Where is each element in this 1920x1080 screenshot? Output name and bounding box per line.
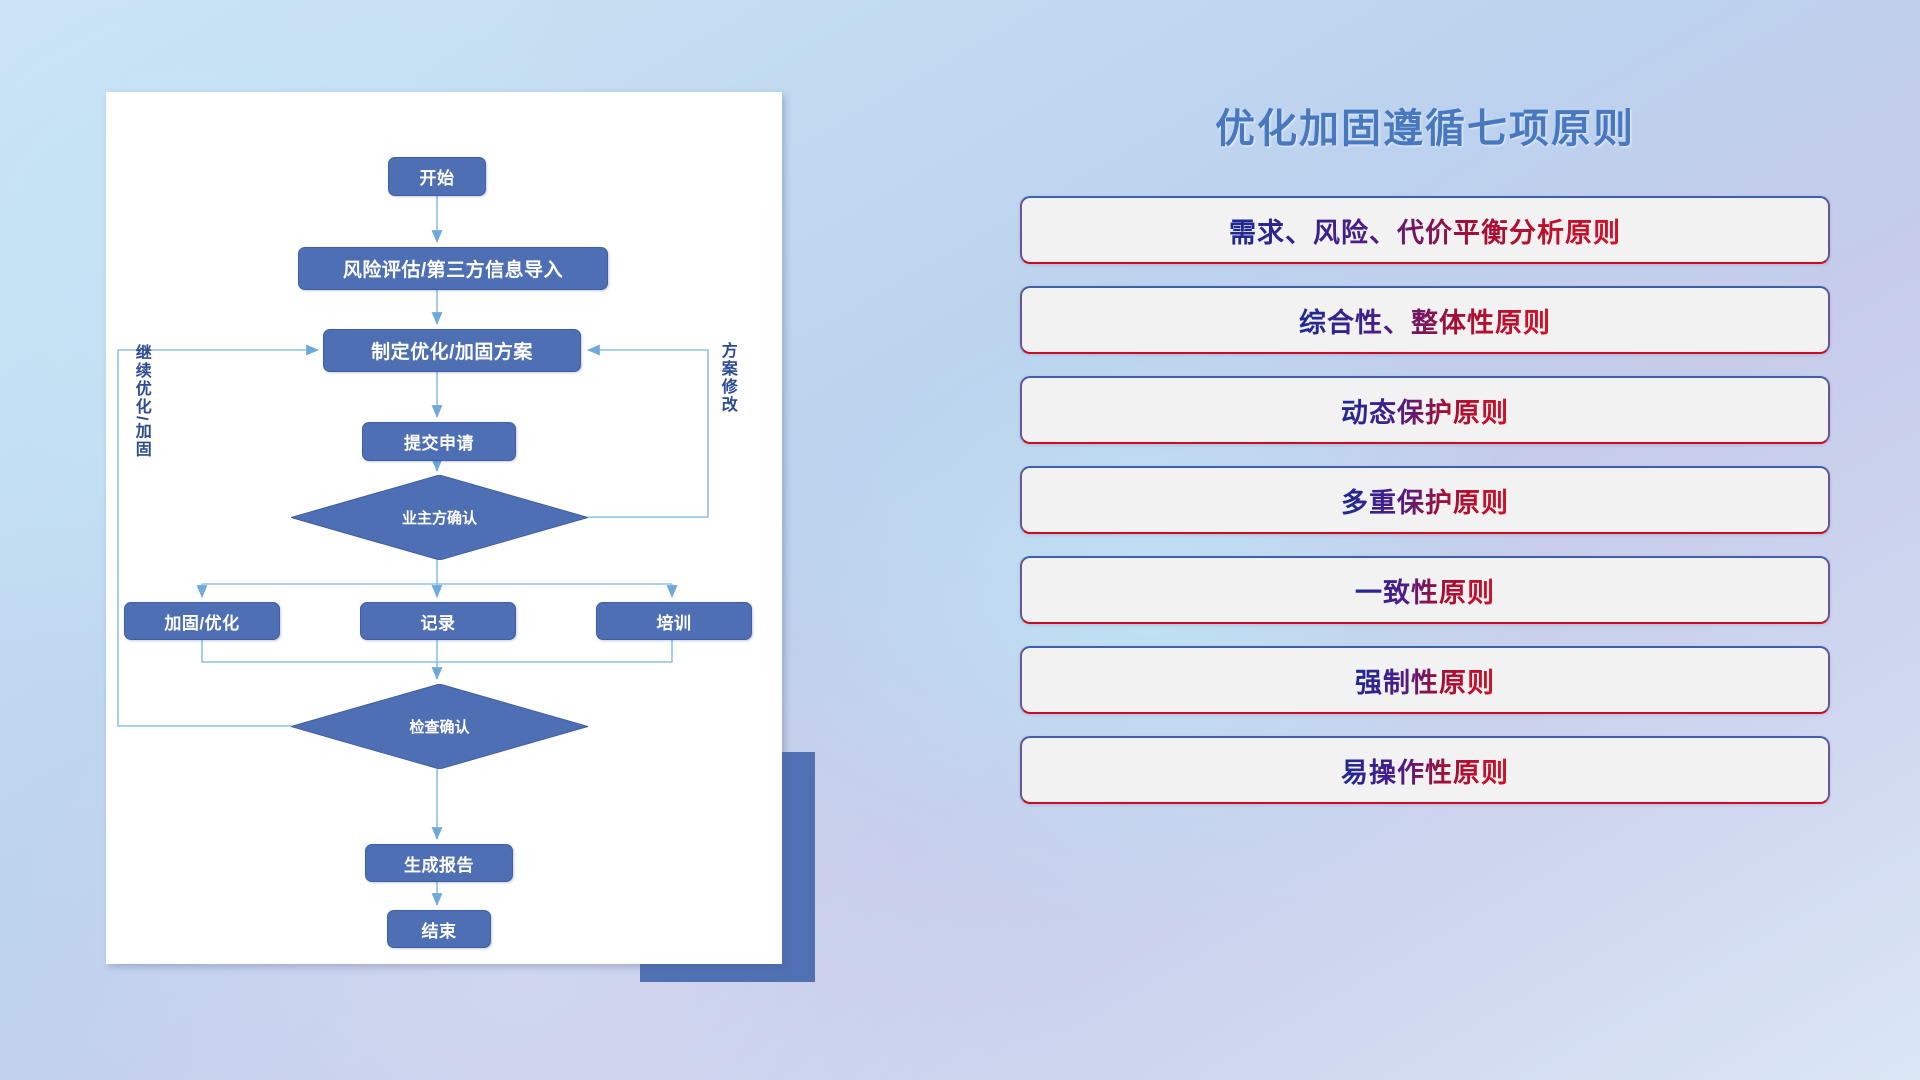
principle-label: 需求、风险、代价平衡分析原则 (1229, 211, 1621, 250)
flow-node-record[interactable]: 记录 (360, 602, 516, 640)
flow-node-report[interactable]: 生成报告 (365, 844, 513, 882)
flow-node-start[interactable]: 开始 (388, 157, 486, 196)
flow-decision-check-confirm[interactable]: 检查确认 (291, 684, 588, 769)
panel-title: 优化加固遵循七项原则 (1020, 96, 1830, 154)
principle-label: 易操作性原则 (1341, 751, 1509, 790)
decision-label: 检查确认 (409, 716, 469, 737)
principles-list: 需求、风险、代价平衡分析原则 综合性、整体性原则 动态保护原则 多重保护原则 一… (1020, 196, 1830, 804)
principle-item-5[interactable]: 一致性原则 (1020, 556, 1830, 624)
edge-label-plan-revision: 方案修改 (718, 342, 735, 414)
flowchart: 开始 风险评估/第三方信息导入 制定优化/加固方案 提交申请 加固/优化 记录 … (106, 92, 782, 964)
principle-label: 一致性原则 (1355, 571, 1495, 610)
principle-label: 多重保护原则 (1341, 481, 1509, 520)
flow-node-risk[interactable]: 风险评估/第三方信息导入 (298, 247, 608, 290)
principle-item-3[interactable]: 动态保护原则 (1020, 376, 1830, 444)
flow-node-training[interactable]: 培训 (596, 602, 752, 640)
principle-label: 动态保护原则 (1341, 391, 1509, 430)
decision-label: 业主方确认 (402, 507, 477, 528)
flow-node-reinforce[interactable]: 加固/优化 (124, 602, 280, 640)
edge-label-continue-optimize: 继续优化/加固 (132, 344, 149, 458)
principles-panel: 优化加固遵循七项原则 需求、风险、代价平衡分析原则 综合性、整体性原则 动态保护… (1020, 96, 1830, 804)
principle-label: 综合性、整体性原则 (1299, 301, 1551, 340)
principle-item-7[interactable]: 易操作性原则 (1020, 736, 1830, 804)
principle-item-1[interactable]: 需求、风险、代价平衡分析原则 (1020, 196, 1830, 264)
principle-item-2[interactable]: 综合性、整体性原则 (1020, 286, 1830, 354)
principle-item-4[interactable]: 多重保护原则 (1020, 466, 1830, 534)
principle-item-6[interactable]: 强制性原则 (1020, 646, 1830, 714)
flow-node-end[interactable]: 结束 (387, 910, 491, 948)
flow-node-submit[interactable]: 提交申请 (362, 422, 516, 461)
principle-label: 强制性原则 (1355, 661, 1495, 700)
flowchart-card: 开始 风险评估/第三方信息导入 制定优化/加固方案 提交申请 加固/优化 记录 … (106, 92, 782, 964)
slide-canvas: 开始 风险评估/第三方信息导入 制定优化/加固方案 提交申请 加固/优化 记录 … (0, 0, 1920, 1080)
flow-node-make-plan[interactable]: 制定优化/加固方案 (323, 329, 581, 372)
flow-decision-owner-confirm[interactable]: 业主方确认 (291, 475, 588, 560)
